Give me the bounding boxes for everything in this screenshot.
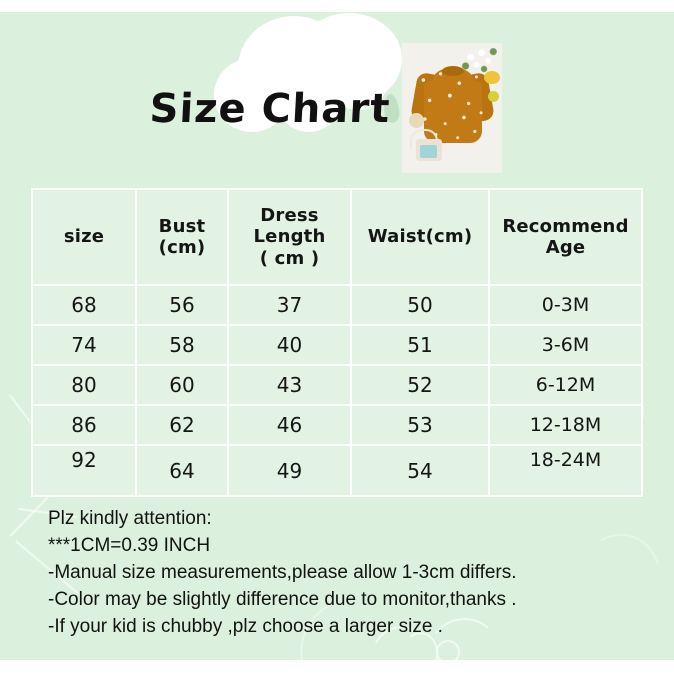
table-row: 86 62 46 53 12-18M: [32, 405, 642, 445]
table-header-row: size Bust (cm) Dress Length ( cm ) Waist…: [32, 189, 642, 285]
cell-dress-length: 46: [228, 405, 351, 445]
cell-dress-length: 43: [228, 365, 351, 405]
column-header-recommend-age: Recommend Age: [489, 189, 642, 285]
cell-size: 86: [32, 405, 136, 445]
size-table: size Bust (cm) Dress Length ( cm ) Waist…: [31, 188, 643, 497]
cell-waist: 52: [351, 365, 489, 405]
cell-age: 12-18M: [489, 405, 642, 445]
lemon-icon: [484, 71, 500, 84]
mini-bag-flap: [420, 145, 437, 158]
cell-bust: 62: [136, 405, 228, 445]
cell-size: 68: [32, 285, 136, 325]
header-line: (cm): [159, 237, 206, 258]
cell-dress-length: 49: [228, 445, 351, 496]
cell-size: 92: [32, 445, 136, 496]
header-line: ( cm ): [260, 248, 320, 269]
note-line-2: ***1CM=0.39 INCH: [48, 532, 660, 559]
cell-bust: 56: [136, 285, 228, 325]
cell-waist: 54: [351, 445, 489, 496]
decorative-arc: [436, 640, 460, 660]
cell-age: 6-12M: [489, 365, 642, 405]
header-line: Waist(cm): [368, 226, 473, 247]
cell-waist: 51: [351, 325, 489, 365]
product-photo: [402, 43, 502, 173]
column-header-size: size: [32, 189, 136, 285]
cell-waist: 53: [351, 405, 489, 445]
cell-size: 80: [32, 365, 136, 405]
size-chart-page: Size Chart size: [0, 0, 674, 674]
cell-age: 0-3M: [489, 285, 642, 325]
header-line: Length: [254, 226, 326, 247]
cell-age: 18-24M: [489, 445, 642, 496]
cell-dress-length: 37: [228, 285, 351, 325]
cell-bust: 58: [136, 325, 228, 365]
header-line: Age: [546, 237, 586, 258]
cell-bust: 60: [136, 365, 228, 405]
table-row: 92 64 49 54 18-24M: [32, 445, 642, 496]
prop-disc: [409, 113, 424, 128]
notes-block: Plz kindly attention: ***1CM=0.39 INCH -…: [48, 505, 660, 640]
note-line-5: -If your kid is chubby ,plz choose a lar…: [48, 613, 660, 640]
column-header-bust: Bust (cm): [136, 189, 228, 285]
header-line: Recommend: [502, 216, 628, 237]
mint-background-panel: Size Chart size: [0, 12, 674, 660]
note-line-4: -Color may be slightly difference due to…: [48, 586, 660, 613]
table-row: 74 58 40 51 3-6M: [32, 325, 642, 365]
cell-dress-length: 40: [228, 325, 351, 365]
note-line-3: -Manual size measurements,please allow 1…: [48, 559, 660, 586]
column-header-waist: Waist(cm): [351, 189, 489, 285]
header-line: size: [64, 226, 104, 247]
table-row: 68 56 37 50 0-3M: [32, 285, 642, 325]
header-line: Dress: [260, 205, 318, 226]
header-line: Bust: [159, 216, 206, 237]
cell-age: 3-6M: [489, 325, 642, 365]
cell-size: 74: [32, 325, 136, 365]
lemon-icon: [488, 91, 499, 102]
note-line-1: Plz kindly attention:: [48, 505, 660, 532]
cell-waist: 50: [351, 285, 489, 325]
column-header-dress-length: Dress Length ( cm ): [228, 189, 351, 285]
table-row: 80 60 43 52 6-12M: [32, 365, 642, 405]
cell-bust: 64: [136, 445, 228, 496]
